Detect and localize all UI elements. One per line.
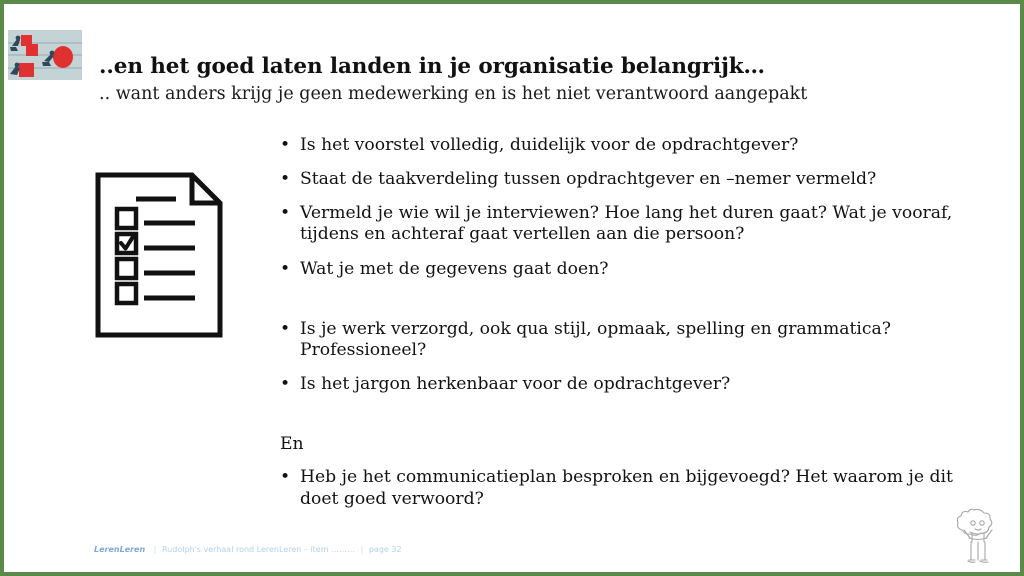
footer-description: Rudolph's verhaal rond LerenLeren – item…	[162, 545, 355, 554]
list-item-text: Staat de taakverdeling tussen opdrachtge…	[300, 169, 876, 189]
list-item-text: Is het jargon herkenbaar voor de opdrach…	[300, 374, 730, 394]
list-item: • Is het jargon herkenbaar voor de opdra…	[277, 374, 977, 395]
bullet-marker: •	[280, 203, 290, 224]
list-item: • Heb je het communicatieplan besproken …	[277, 467, 977, 509]
list-item: • Vermeld je wie wil je interviewen? Hoe…	[277, 203, 977, 245]
list-item: • Is je werk verzorgd, ook qua stijl, op…	[277, 319, 977, 361]
bullet-marker: •	[280, 374, 290, 395]
bullet-marker: •	[280, 319, 290, 340]
list-item-text: Vermeld je wie wil je interviewen? Hoe l…	[300, 203, 952, 244]
people-pushing-blocks-logo	[8, 30, 82, 80]
bullet-marker: •	[280, 467, 290, 488]
bullet-marker: •	[280, 169, 290, 190]
bullet-marker: •	[280, 135, 290, 156]
slide-canvas: ..en het goed laten landen in je organis…	[0, 0, 1024, 576]
slide-subtitle: .. want anders krijg je geen medewerking…	[99, 84, 807, 104]
list-item-text: Heb je het communicatieplan besproken en…	[300, 467, 953, 508]
bullet-content: • Is het voorstel volledig, duidelijk vo…	[277, 135, 977, 523]
footer-brand: LerenLeren	[94, 545, 145, 554]
list-item-text: Wat je met de gegevens gaat doen?	[300, 259, 608, 279]
list-item: • Is het voorstel volledig, duidelijk vo…	[277, 135, 977, 156]
footer-separator: |	[154, 545, 157, 554]
group-spacer	[277, 408, 977, 434]
list-item-text: Is je werk verzorgd, ook qua stijl, opma…	[300, 319, 891, 360]
person-sketch-illustration	[950, 498, 1006, 568]
list-item-text: Is het voorstel volledig, duidelijk voor…	[300, 135, 798, 155]
footer: LerenLeren | Rudolph's verhaal rond Lere…	[94, 545, 402, 554]
group-spacer	[277, 293, 977, 319]
footer-separator: |	[361, 545, 364, 554]
bullet-marker: •	[280, 259, 290, 280]
list-item: • Staat de taakverdeling tussen opdracht…	[277, 169, 977, 190]
footer-page-number: page 32	[369, 545, 402, 554]
checklist-document-icon	[92, 170, 226, 340]
list-item: • Wat je met de gegevens gaat doen?	[277, 259, 977, 280]
slide-title: ..en het goed laten landen in je organis…	[99, 54, 765, 79]
group-label-en: En	[277, 434, 977, 455]
